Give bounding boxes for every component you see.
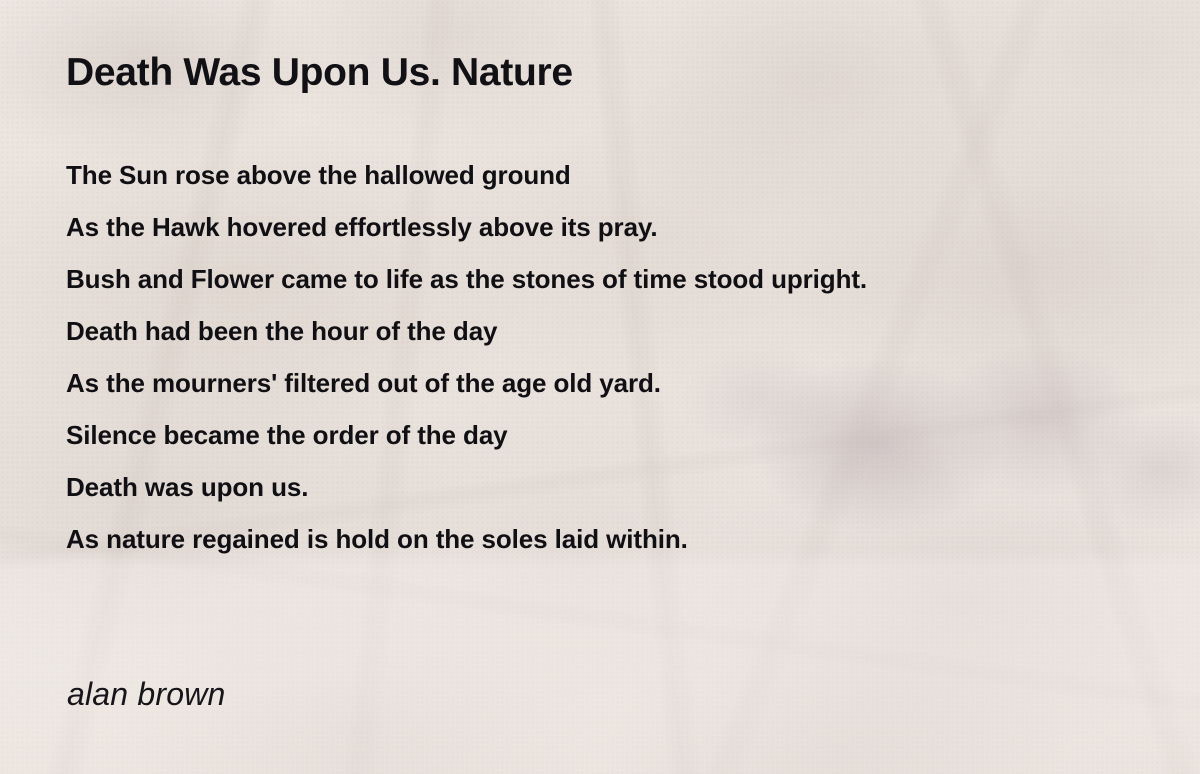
page-title: Death Was Upon Us. Nature [66,51,573,95]
poem-line: Death was upon us. [66,470,1146,522]
poem-line: Silence became the order of the day [66,418,1146,470]
poem-line: Bush and Flower came to life as the ston… [66,262,1146,314]
poem-line: As the Hawk hovered effortlessly above i… [66,210,1146,262]
poem-line: Death had been the hour of the day [66,314,1146,366]
poem-page: Death Was Upon Us. Nature The Sun rose a… [0,0,1200,774]
poem-body: The Sun rose above the hallowed ground A… [66,158,1146,574]
poem-line: As nature regained is hold on the soles … [66,522,1146,574]
poem-line: As the mourners' filtered out of the age… [66,366,1146,418]
poem-line: The Sun rose above the hallowed ground [66,158,1146,210]
author-signature: alan brown [67,676,226,713]
